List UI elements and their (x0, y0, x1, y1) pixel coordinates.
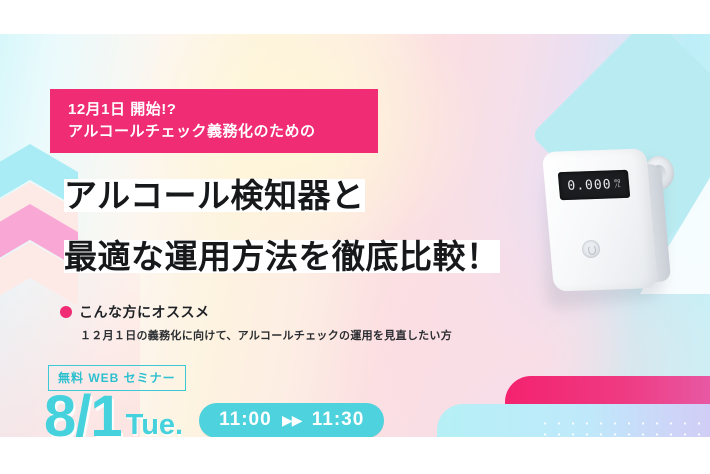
webinar-banner: 0.000 mg /L 12月1日 開始!? アルコールチェック義務化のための … (0, 0, 710, 474)
pink-header-line2: アルコールチェック義務化のための (68, 121, 378, 143)
time-arrow-icon: ▶▶ (278, 412, 306, 428)
pink-header-line1: 12月1日 開始!? (68, 99, 378, 121)
device-display-value: 0.000 (567, 177, 612, 193)
seminar-weekday: Tue. (126, 411, 183, 437)
headline-line1-wrap: アルコール検知器と (50, 170, 379, 223)
recommend-block: こんな方にオススメ １２月１日の義務化に向けて、アルコールチェックの運用を見直し… (60, 302, 452, 343)
recommend-title: こんな方にオススメ (79, 302, 210, 322)
headline-line2: 最適な運用方法を徹底比較！ (64, 240, 500, 273)
headline-line2-wrap: 最適な運用方法を徹底比較！ (50, 231, 514, 284)
time-end: 11:30 (312, 409, 365, 430)
alcohol-detector-image: 0.000 mg /L (540, 142, 690, 312)
dot-pattern-decoration (538, 418, 710, 437)
date-row: 8/1 Tue. 11:00 ▶▶ 11:30 (44, 389, 384, 437)
device-display: 0.000 mg /L (558, 170, 630, 200)
seminar-date: 8/1 (44, 389, 122, 437)
seminar-time-pill: 11:00 ▶▶ 11:30 (199, 403, 384, 437)
artboard: 0.000 mg /L 12月1日 開始!? アルコールチェック義務化のための … (0, 34, 710, 437)
recommend-subtitle: １２月１日の義務化に向けて、アルコールチェックの運用を見直したい方 (80, 327, 452, 343)
pink-band-decoration (505, 376, 710, 404)
device-display-unit: mg /L (614, 179, 621, 189)
pink-header-banner: 12月1日 開始!? アルコールチェック義務化のための (50, 89, 378, 153)
headline-line1: アルコール検知器と (64, 179, 365, 212)
bullet-dot-icon (60, 306, 72, 318)
recommend-heading: こんな方にオススメ (60, 302, 452, 322)
device-unit-bottom: /L (615, 184, 621, 189)
time-start: 11:00 (219, 409, 272, 430)
